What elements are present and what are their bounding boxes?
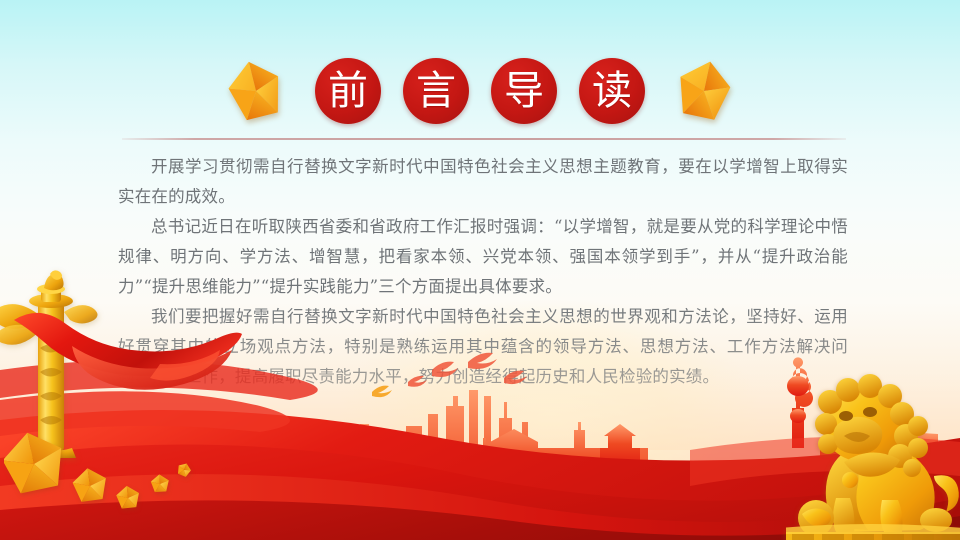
slide-canvas: 前 言 导 读 开展学习贯彻需自行替换文字新时代中国特色社会主义思想主题教育，要… bbox=[0, 0, 960, 540]
paragraph-2: 总书记近日在听取陕西省委和省政府工作汇报时强调：“以学增智，就是要从党的科学理论… bbox=[118, 212, 848, 302]
title-char-4: 读 bbox=[579, 58, 645, 124]
gold-star-icon bbox=[219, 55, 293, 127]
red-silk-ribbon-icon bbox=[10, 298, 245, 403]
title-row: 前 言 导 读 bbox=[0, 48, 960, 134]
guardian-lion-icon bbox=[786, 358, 960, 540]
paragraph-1: 开展学习贯彻需自行替换文字新时代中国特色社会主义思想主题教育，要在以学增智上取得… bbox=[118, 152, 848, 212]
title-divider bbox=[122, 138, 846, 140]
title-char-2: 言 bbox=[403, 58, 469, 124]
title-char-3: 导 bbox=[491, 58, 557, 124]
five-gold-stars-icon bbox=[4, 424, 234, 528]
gold-star-icon bbox=[667, 55, 741, 127]
title-char-1: 前 bbox=[315, 58, 381, 124]
